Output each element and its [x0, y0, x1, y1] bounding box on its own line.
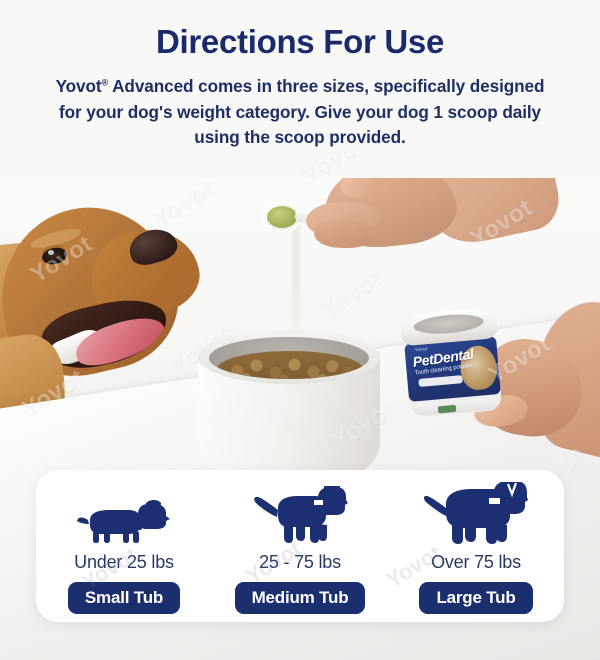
small-dog-icon-wrap: [39, 486, 209, 544]
medium-dog-icon-wrap: [215, 486, 385, 544]
large-dog-icon: [424, 482, 528, 544]
page-subtitle: Yovot® Advanced comes in three sizes, sp…: [50, 74, 550, 150]
dog-size-card: Yovot Yovot Yovot: [36, 470, 564, 622]
size-option-medium[interactable]: 25 - 75 lbs Medium Tub: [215, 486, 385, 614]
dog-eye-highlight: [48, 250, 54, 255]
bowl-interior: [209, 337, 369, 379]
weight-label: Over 75 lbs: [391, 552, 561, 573]
jar-label: Yovot PetDental Tooth cleaning powder: [404, 336, 501, 402]
large-tub-button[interactable]: Large Tub: [419, 582, 532, 614]
green-powder: [267, 206, 297, 228]
size-option-small[interactable]: Under 25 lbs Small Tub: [39, 486, 209, 614]
large-dog-icon-wrap: [391, 486, 561, 544]
weight-label: Under 25 lbs: [39, 552, 209, 573]
header-section: Directions For Use Yovot® Advanced comes…: [0, 0, 600, 178]
kibble-food: [217, 351, 363, 379]
directions-for-use-page: Yovot PetDental Tooth cleaning powder Yo…: [0, 0, 600, 660]
page-title: Directions For Use: [0, 24, 600, 60]
subtitle-body: Advanced comes in three sizes, specifica…: [59, 76, 544, 147]
petdental-product-jar: Yovot PetDental Tooth cleaning powder: [400, 306, 505, 419]
small-tub-button[interactable]: Small Tub: [68, 582, 180, 614]
small-dog-icon: [76, 500, 172, 544]
jar-open-mouth: [413, 312, 484, 336]
weight-label: 25 - 75 lbs: [215, 552, 385, 573]
powder-stream: [292, 220, 300, 332]
jar-label-chip: [418, 375, 463, 387]
size-option-large[interactable]: Over 75 lbs Large Tub: [391, 486, 561, 614]
brand-name: Yovot: [56, 76, 102, 96]
medium-tub-button[interactable]: Medium Tub: [235, 582, 366, 614]
dog-food-bowl: [198, 330, 380, 490]
medium-dog-icon: [252, 486, 348, 544]
